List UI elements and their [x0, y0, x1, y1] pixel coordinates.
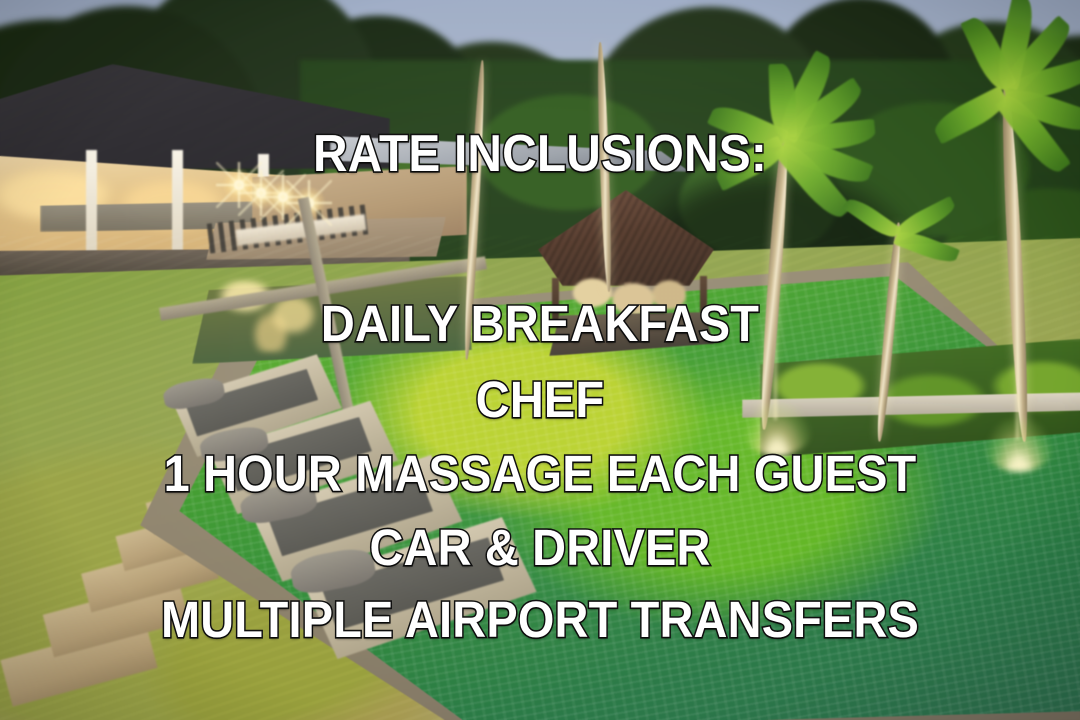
bale-post — [552, 278, 559, 322]
palm-uplight — [742, 402, 812, 456]
uplight-beam — [1016, 280, 1019, 440]
villa-photograph — [0, 0, 1080, 720]
palm-uplight — [984, 418, 1054, 472]
uplight-beam — [774, 260, 777, 420]
promo-image: RATE INCLUSIONS: DAILY BREAKFAST CHEF 1 … — [0, 0, 1080, 720]
